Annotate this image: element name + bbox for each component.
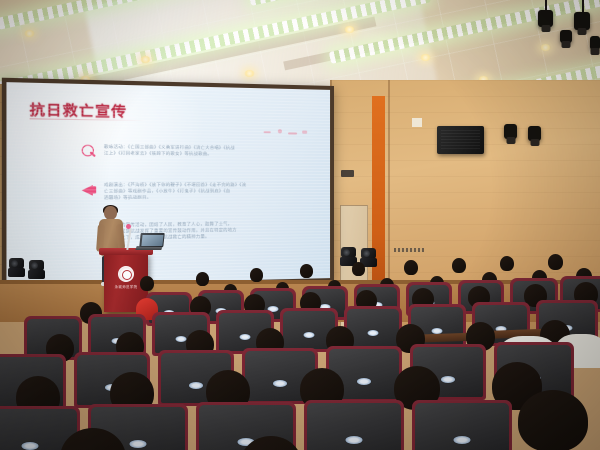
- downlight: [24, 30, 35, 37]
- megaphone-icon: [82, 183, 98, 198]
- downlight: [420, 54, 431, 61]
- audience-head: [548, 254, 563, 270]
- laptop-screen[interactable]: [139, 233, 164, 247]
- audience-head: [140, 276, 154, 291]
- audience-head: [452, 258, 466, 273]
- stage-spotlight-icon: [504, 124, 517, 139]
- audience-head: [404, 260, 418, 275]
- stage-spotlight-icon: [538, 10, 553, 27]
- slide-decoration: [264, 129, 317, 140]
- magnifier-icon: [82, 145, 98, 160]
- stage-spotlight-icon: [590, 36, 600, 50]
- speaker-head: [104, 206, 117, 220]
- microphone-icon: [126, 224, 131, 229]
- downlight: [540, 44, 551, 51]
- wall-sensor-icon: [412, 118, 422, 127]
- auditorium-seat[interactable]: [412, 400, 512, 450]
- slide-title: 抗日救亡宣传: [30, 98, 128, 121]
- downlight: [140, 56, 151, 63]
- audience-head: [500, 256, 514, 271]
- slide-bullet-2: 戏剧演出：《芦沟桥》《放下你的鞭子》《不堪回首》《走不完的路》《流 亡三部曲》等…: [82, 182, 247, 202]
- slide-bullet-1-text: 歌咏活动：《亡国三部曲》《义勇军进行曲》《流亡大合唱》《抗战 江上》《打回老家去…: [104, 144, 235, 161]
- downlight: [344, 26, 355, 33]
- audience-head: [196, 272, 209, 286]
- downlight: [244, 70, 255, 77]
- audience-area: [0, 250, 600, 450]
- audience-head-foreground: [518, 390, 588, 450]
- wall-speaker-icon: [437, 126, 484, 154]
- stage-spotlight-icon: [528, 126, 541, 141]
- audience-head: [250, 268, 263, 282]
- stage-spotlight-icon: [574, 12, 590, 30]
- auditorium-seat[interactable]: [304, 400, 404, 450]
- wall-panel-icon: [341, 170, 354, 177]
- audience-head: [352, 262, 365, 276]
- slide-bullet-2-text: 戏剧演出：《芦沟桥》《放下你的鞭子》《不堪回首》《走不完的路》《流 亡三部曲》等…: [104, 182, 246, 202]
- audience-head: [300, 264, 313, 278]
- slide-bullet-1: 歌咏活动：《亡国三部曲》《义勇军进行曲》《流亡大合唱》《抗战 江上》《打回老家去…: [82, 144, 235, 161]
- stage-spotlight-icon: [560, 30, 572, 43]
- lecture-hall-photo: 抗日救亡宣传 歌咏活动：《亡国三部曲》《义勇军进行曲》《流亡大合唱》《抗战 江上…: [0, 0, 600, 450]
- speaker-right-arm: [116, 224, 126, 251]
